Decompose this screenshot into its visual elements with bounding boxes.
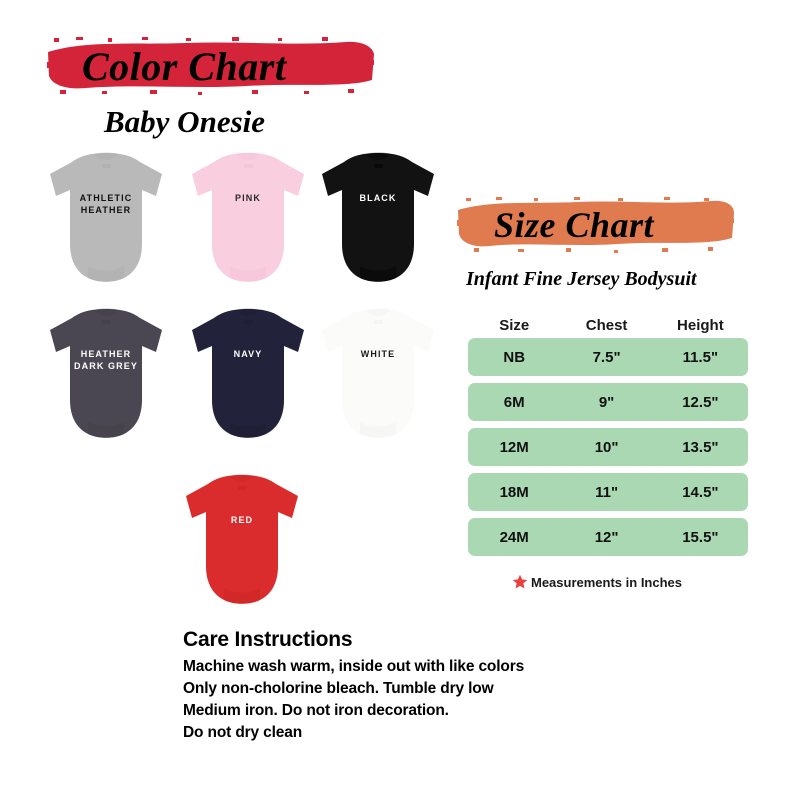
onesie-label: RED xyxy=(180,514,304,526)
onesie-label: BLACK xyxy=(316,192,440,204)
cell-size: 18M xyxy=(468,484,560,501)
onesie-athletic-heather[interactable]: ATHLETIC HEATHER xyxy=(44,148,168,288)
size-chart-subtitle: Infant Fine Jersey Bodysuit xyxy=(466,268,697,291)
onesie-pink[interactable]: PINK xyxy=(186,148,310,288)
onesie-label: PINK xyxy=(186,192,310,204)
cell-chest: 10" xyxy=(560,439,652,456)
onesie-garment-icon xyxy=(186,148,310,288)
cell-height: 12.5" xyxy=(653,394,748,411)
onesie-label: ATHLETIC HEATHER xyxy=(44,192,168,216)
cell-chest: 12" xyxy=(560,529,652,546)
table-row: 24M 12" 15.5" xyxy=(468,518,748,556)
table-row: NB 7.5" 11.5" xyxy=(468,338,748,376)
size-chart-title: Size Chart xyxy=(456,205,654,245)
cell-size: NB xyxy=(468,349,560,366)
onesie-heather-dark-grey[interactable]: HEATHER DARK GREY xyxy=(44,304,168,444)
onesie-label: WHITE xyxy=(316,348,440,360)
onesie-white[interactable]: WHITE xyxy=(316,304,440,444)
table-row: 12M 10" 13.5" xyxy=(468,428,748,466)
star-icon xyxy=(512,574,528,590)
column-header-size: Size xyxy=(468,317,560,334)
cell-height: 15.5" xyxy=(653,529,748,546)
onesie-garment-icon xyxy=(316,304,440,444)
table-row: 18M 11" 14.5" xyxy=(468,473,748,511)
color-chart-subtitle: Baby Onesie xyxy=(104,104,265,140)
onesie-black[interactable]: BLACK xyxy=(316,148,440,288)
onesie-label: NAVY xyxy=(186,348,310,360)
cell-height: 13.5" xyxy=(653,439,748,456)
care-instruction-line: Only non-cholorine bleach. Tumble dry lo… xyxy=(183,678,613,700)
cell-size: 12M xyxy=(468,439,560,456)
column-header-height: Height xyxy=(653,317,748,334)
column-header-chest: Chest xyxy=(560,317,652,334)
cell-height: 14.5" xyxy=(653,484,748,501)
onesie-garment-icon xyxy=(316,148,440,288)
onesie-color-grid: ATHLETIC HEATHER PINK BLACK HEATHER DARK… xyxy=(28,148,428,618)
color-chart-banner: Color Chart xyxy=(46,36,376,98)
size-chart-table: Size Chest Height NB 7.5" 11.5" 6M 9" 12… xyxy=(468,312,748,563)
care-instruction-line: Machine wash warm, inside out with like … xyxy=(183,656,613,678)
cell-chest: 9" xyxy=(560,394,652,411)
cell-chest: 7.5" xyxy=(560,349,652,366)
table-row: 6M 9" 12.5" xyxy=(468,383,748,421)
color-chart-title: Color Chart xyxy=(46,44,286,89)
cell-chest: 11" xyxy=(560,484,652,501)
onesie-garment-icon xyxy=(180,470,304,610)
cell-height: 11.5" xyxy=(653,349,748,366)
care-instructions-section: Care Instructions Machine wash warm, ins… xyxy=(183,628,613,744)
cell-size: 6M xyxy=(468,394,560,411)
measurement-note: Measurements in Inches xyxy=(512,574,682,590)
onesie-navy[interactable]: NAVY xyxy=(186,304,310,444)
table-header-row: Size Chest Height xyxy=(468,312,748,338)
cell-size: 24M xyxy=(468,529,560,546)
measurement-note-text: Measurements in Inches xyxy=(531,575,682,590)
onesie-garment-icon xyxy=(44,304,168,444)
care-instruction-line: Do not dry clean xyxy=(183,722,613,744)
onesie-garment-icon xyxy=(186,304,310,444)
care-instructions-title: Care Instructions xyxy=(183,628,613,652)
onesie-red[interactable]: RED xyxy=(180,470,304,610)
onesie-label: HEATHER DARK GREY xyxy=(44,348,168,372)
onesie-garment-icon xyxy=(44,148,168,288)
size-chart-banner: Size Chart xyxy=(456,196,736,254)
care-instruction-line: Medium iron. Do not iron decoration. xyxy=(183,700,613,722)
